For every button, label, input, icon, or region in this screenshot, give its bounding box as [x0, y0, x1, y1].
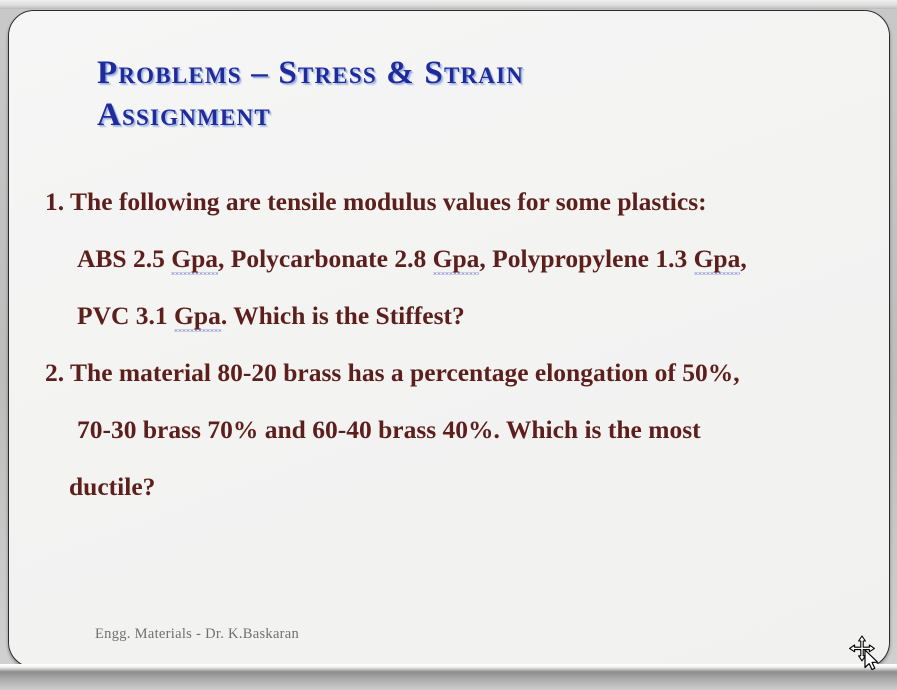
window-bottom-shadow: [0, 664, 897, 690]
question-1-line-3: PVC 3.1 Gpa. Which is the Stiffest?: [45, 287, 860, 344]
slide-canvas: Problems – Stress & Strain Assignment 1.…: [9, 11, 889, 667]
slide-title-line-1: Problems – Stress & Strain: [97, 53, 837, 95]
window-top-strip: [0, 0, 897, 9]
slide-page[interactable]: Problems – Stress & Strain Assignment 1.…: [8, 10, 890, 668]
slide-footer: Engg. Materials - Dr. K.Baskaran: [95, 626, 299, 643]
question-item-2: 2. The material 80-20 brass has a percen…: [45, 344, 860, 515]
question-1-line-2: ABS 2.5 Gpa, Polycarbonate 2.8 Gpa, Poly…: [45, 230, 860, 287]
slide-body[interactable]: 1. The following are tensile modulus val…: [45, 173, 860, 515]
question-item-1: 1. The following are tensile modulus val…: [45, 173, 860, 344]
slide-title[interactable]: Problems – Stress & Strain Assignment: [97, 53, 837, 136]
spellcheck-underline: Gpa: [433, 244, 480, 275]
slide-title-line-2: Assignment: [97, 95, 837, 137]
spellcheck-underline: Gpa: [171, 244, 218, 275]
question-2-line-1: 2. The material 80-20 brass has a percen…: [45, 344, 860, 401]
question-1-line-1: 1. The following are tensile modulus val…: [45, 173, 860, 230]
presentation-viewport: Problems – Stress & Strain Assignment 1.…: [0, 0, 897, 690]
question-2-line-2: 70-30 brass 70% and 60-40 brass 40%. Whi…: [45, 401, 860, 458]
spellcheck-underline: Gpa: [174, 301, 221, 332]
spellcheck-underline: Gpa: [694, 244, 741, 275]
question-2-line-3: ductile?: [45, 458, 860, 515]
